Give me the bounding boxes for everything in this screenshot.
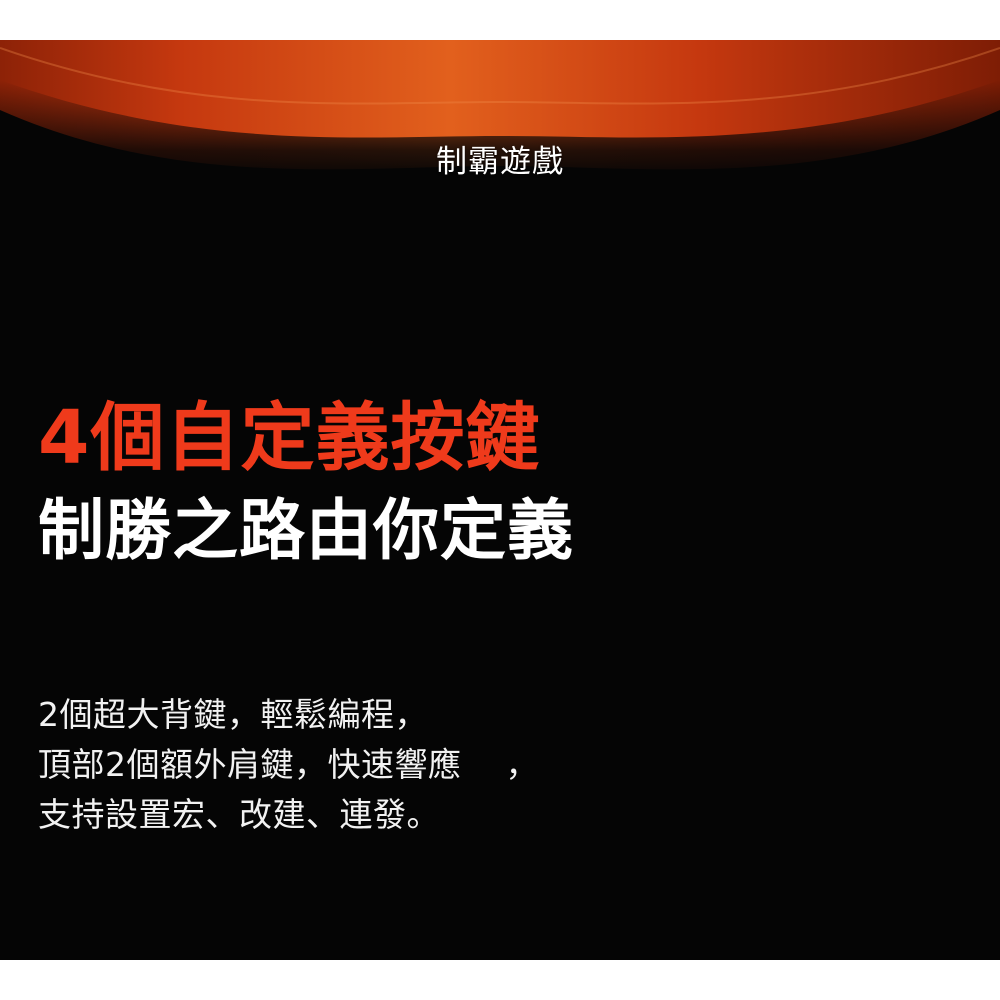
body-text-block: 2個超大背鍵，輕鬆編程， 頂部2個額外肩鍵，快速響應， 支持設置宏、改建、連發。: [38, 690, 938, 840]
poster-panel: 制霸遊戲 4個自定義按鍵 制勝之路由你定義 2個超大背鍵，輕鬆編程， 頂部2個額…: [0, 40, 1000, 960]
headline-block: 4個自定義按鍵 制勝之路由你定義: [38, 395, 938, 573]
body-line: 頂部2個額外肩鍵，快速響應，: [38, 740, 938, 790]
body-line: 支持設置宏、改建、連發。: [38, 790, 938, 840]
body-line-trailing-punctuation: ，: [506, 740, 540, 790]
body-line: 2個超大背鍵，輕鬆編程，: [38, 690, 938, 740]
body-line-text: 頂部2個額外肩鍵，快速響應: [38, 745, 462, 784]
top-banner: 制霸遊戲: [0, 40, 1000, 180]
poster-canvas: 制霸遊戲 4個自定義按鍵 制勝之路由你定義 2個超大背鍵，輕鬆編程， 頂部2個額…: [0, 0, 1000, 1000]
body-line-text: 支持設置宏、改建、連發。: [38, 795, 440, 834]
headline-secondary: 制勝之路由你定義: [38, 489, 938, 573]
body-line-text: 2個超大背鍵，輕鬆編程，: [38, 695, 428, 734]
headline-primary: 4個自定義按鍵: [38, 395, 938, 481]
banner-title: 制霸遊戲: [0, 144, 1000, 180]
